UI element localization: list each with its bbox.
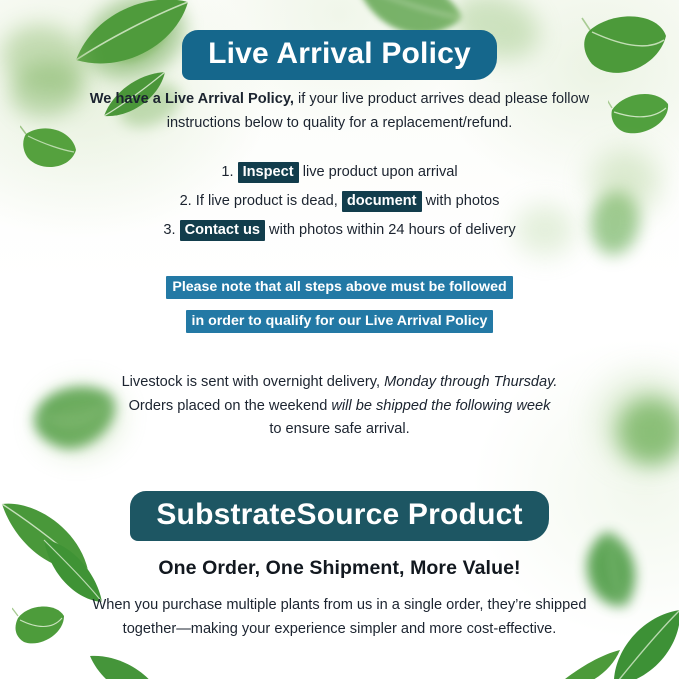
step-number: 2.: [180, 193, 192, 209]
shipping-line-1-plain: Livestock is sent with overnight deliver…: [122, 374, 385, 390]
list-item: 1. Inspect live product upon arrival: [60, 158, 620, 187]
policy-intro-paragraph: We have a Live Arrival Policy, if your l…: [75, 88, 605, 135]
product-body-line-2: together—making your experience simpler …: [75, 618, 605, 642]
policy-note-line-1-row: Please note that all steps above must be…: [0, 272, 679, 302]
policy-intro-line-2: instructions below to quality for a repl…: [75, 112, 605, 136]
shipping-line-1: Livestock is sent with overnight deliver…: [80, 371, 600, 395]
shipping-line-2: Orders placed on the weekend will be shi…: [80, 395, 600, 419]
policy-intro-line-1: We have a Live Arrival Policy, if your l…: [75, 88, 605, 112]
live-arrival-policy-banner: Live Arrival Policy: [182, 30, 497, 80]
policy-note-line-2-row: in order to qualify for our Live Arrival…: [0, 306, 679, 336]
shipping-line-2-plain: Orders placed on the weekend: [129, 398, 332, 414]
step-post-text: with photos within 24 hours of delivery: [265, 222, 516, 238]
shipping-line-2-italic: will be shipped the following week: [331, 398, 550, 414]
shipping-line-1-italic: Monday through Thursday.: [384, 374, 557, 390]
product-body-paragraph: When you purchase multiple plants from u…: [75, 594, 605, 641]
product-body-line-1: When you purchase multiple plants from u…: [75, 594, 605, 618]
step-post-text: with photos: [422, 193, 500, 209]
shipping-paragraph: Livestock is sent with overnight deliver…: [80, 371, 600, 442]
policy-note-line-2: in order to qualify for our Live Arrival…: [186, 310, 494, 333]
policy-steps-list: 1. Inspect live product upon arrival 2. …: [60, 158, 620, 246]
step-highlight-inspect[interactable]: Inspect: [238, 162, 299, 183]
policy-intro-bold: We have a Live Arrival Policy,: [90, 91, 294, 107]
step-number: 3.: [163, 222, 175, 238]
substratesource-product-banner-row: SubstrateSource Product: [0, 491, 679, 541]
list-item: 3. Contact us with photos within 24 hour…: [60, 216, 620, 245]
shipping-line-3: to ensure safe arrival.: [80, 418, 600, 442]
live-arrival-policy-banner-row: Live Arrival Policy: [0, 30, 679, 80]
promo-infographic: Live Arrival Policy We have a Live Arriv…: [0, 0, 679, 679]
list-item: 2. If live product is dead, document wit…: [60, 187, 620, 216]
step-highlight-contact-us[interactable]: Contact us: [180, 220, 265, 241]
policy-intro-rest: if your live product arrives dead please…: [294, 91, 589, 107]
step-pre-text: [176, 222, 180, 238]
substratesource-product-banner: SubstrateSource Product: [130, 491, 548, 541]
step-pre-text: If live product is dead,: [192, 193, 342, 209]
policy-note-line-1: Please note that all steps above must be…: [166, 276, 512, 299]
policy-note-block: Please note that all steps above must be…: [0, 272, 679, 337]
step-number: 1.: [221, 164, 233, 180]
step-post-text: live product upon arrival: [299, 164, 458, 180]
step-highlight-document[interactable]: document: [342, 191, 422, 212]
product-subheading: One Order, One Shipment, More Value!: [0, 557, 679, 580]
